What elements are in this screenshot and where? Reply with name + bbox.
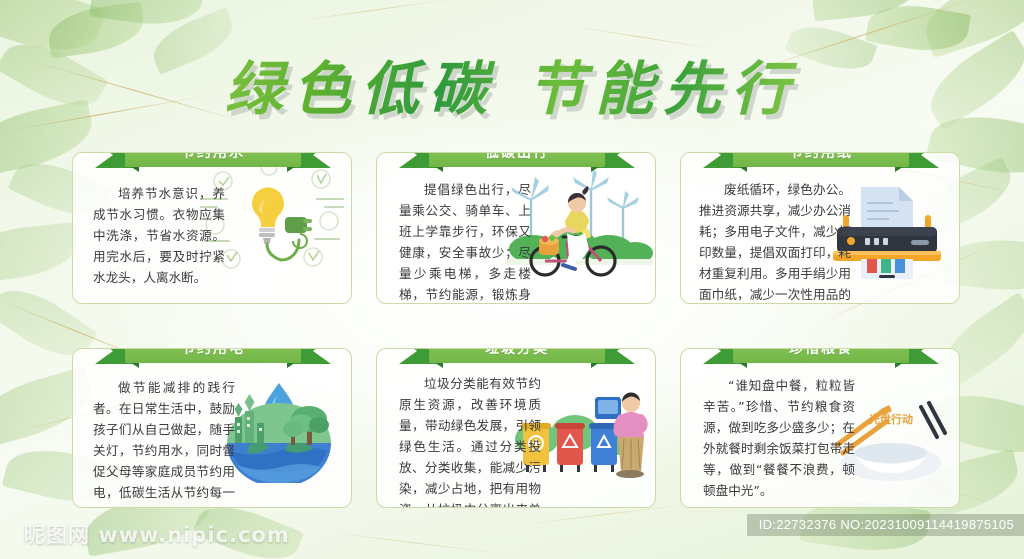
panel-heading-water-saving: 节约用水: [181, 153, 245, 162]
panel-low-carbon-travel: 低碳出行 提倡绿色出行，尽量乘公交、骑单车、上班上学靠步行，环保又健康，安全事故…: [376, 152, 656, 304]
panel-water-saving: 节约用水 培养节水意识，养成节水习惯。衣物应集中洗涤，节省水资源。用完水后，要及…: [72, 152, 352, 304]
ribbon-waste-sorting: 垃圾分类: [399, 349, 635, 363]
poster-title-wrap: 绿色低碳 节能先行: [0, 42, 1024, 126]
ribbon-center: 节约用纸: [733, 153, 909, 167]
ribbon-center: 节约用电: [125, 349, 301, 363]
panel-text-water-saving: 培养节水意识，养成节水习惯。衣物应集中洗涤，节省水资源。用完水后，要及时拧紧水龙…: [93, 183, 225, 288]
poster-canvas: 绿色低碳 节能先行: [0, 0, 1024, 559]
panel-text-electricity-saving: 做节能减排的践行者。在日常生活中，鼓励孩子们从自己做起，随手关灯，节约用水，同时…: [93, 377, 235, 507]
ribbon-low-carbon-travel: 低碳出行: [399, 153, 635, 167]
panel-waste-sorting: 垃圾分类 垃圾分类能有效节约原生资源，改善环境质量，带动绿色发展，引领绿色生活。…: [376, 348, 656, 508]
panel-text-cherish-food: “谁知盘中餐，粒粒皆辛苦。”珍惜、节约粮食资源，做到吃多少盛多少；在外就餐时剩余…: [703, 375, 855, 501]
panel-heading-cherish-food: 珍惜粮食: [789, 349, 853, 358]
ribbon-paper-saving: 节约用纸: [703, 153, 939, 167]
panel-paper-saving: 节约用纸 废纸循环，绿色办公。推进资源共享，减少办公消耗；多用电子文件，减少打印…: [680, 152, 960, 304]
ribbon-center: 低碳出行: [429, 153, 605, 167]
panel-text-low-carbon-travel: 提倡绿色出行，尽量乘公交、骑单车、上班上学靠步行，环保又健康，安全事故少；尽量少…: [399, 179, 531, 303]
page-title: 绿色低碳 节能先行: [219, 42, 805, 126]
panel-heading-waste-sorting: 垃圾分类: [485, 349, 549, 358]
panel-text-paper-saving: 废纸循环，绿色办公。推进资源共享，减少办公消耗；多用电子文件，减少打印数量，提倡…: [699, 179, 851, 303]
ribbon-center: 节约用水: [125, 153, 301, 167]
ribbon-center: 珍惜粮食: [733, 349, 909, 363]
panel-cherish-food: 光盘行动 珍惜粮食 “谁知盘中餐，粒粒皆辛苦。”珍惜、节约粮食资源，做到吃多少盛…: [680, 348, 960, 508]
panel-heading-electricity-saving: 节约用电: [181, 349, 245, 358]
panel-text-waste-sorting: 垃圾分类能有效节约原生资源，改善环境质量，带动绿色发展，引领绿色生活。通过分类投…: [399, 373, 541, 507]
panel-heading-paper-saving: 节约用纸: [789, 153, 853, 162]
art-label-cherish-food: 光盘行动: [868, 412, 913, 426]
ribbon-cherish-food: 珍惜粮食: [703, 349, 939, 363]
ribbon-electricity-saving: 节约用电: [95, 349, 331, 363]
ribbon-center: 垃圾分类: [429, 349, 605, 363]
panel-heading-low-carbon-travel: 低碳出行: [485, 153, 549, 162]
ribbon-water-saving: 节约用水: [95, 153, 331, 167]
panel-electricity-saving: 节约用电 做节能减排的践行者。在日常生活中，鼓励孩子们从自己做起，随手关灯，节约…: [72, 348, 352, 508]
site-watermark: 昵图网 www.nipic.com: [24, 519, 290, 549]
image-id-bar: ID:22732376 NO:20231009114419875105: [747, 514, 1024, 536]
